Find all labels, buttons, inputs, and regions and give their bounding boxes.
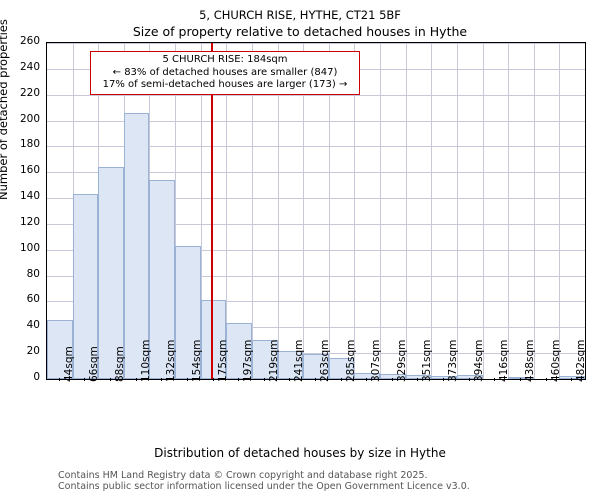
x-axis-tick-label: 460sqm <box>550 340 562 382</box>
gridline-vertical <box>406 43 407 379</box>
y-axis-tick-label: 120 <box>0 216 40 228</box>
gridline-horizontal <box>47 95 585 96</box>
y-axis-tick-label: 260 <box>0 35 40 47</box>
gridline-vertical <box>380 43 381 379</box>
footer-line-2: Contains public sector information licen… <box>58 481 470 492</box>
x-axis-tick-mark <box>341 378 342 381</box>
property-annotation-box: 5 CHURCH RISE: 184sqm← 83% of detached h… <box>90 51 360 95</box>
gridline-vertical <box>508 43 509 379</box>
x-axis-tick-mark <box>161 378 162 381</box>
y-axis-tick-label: 240 <box>0 61 40 73</box>
x-axis-tick-mark <box>136 378 137 381</box>
x-axis-tick-mark <box>366 378 367 381</box>
x-axis-tick-mark <box>494 378 495 381</box>
gridline-vertical <box>534 43 535 379</box>
x-axis-tick-label: 394sqm <box>473 340 485 382</box>
x-axis-tick-mark <box>187 378 188 381</box>
x-axis-tick-label: 351sqm <box>421 340 433 382</box>
y-axis-tick-label: 200 <box>0 113 40 125</box>
x-axis-tick-label: 438sqm <box>524 340 536 382</box>
x-axis-tick-label: 197sqm <box>242 340 254 382</box>
y-axis-tick-label: 180 <box>0 138 40 150</box>
x-axis-tick-mark <box>315 378 316 381</box>
footer-attribution: Contains HM Land Registry data © Crown c… <box>58 470 470 492</box>
y-axis-tick-label: 60 <box>0 293 40 305</box>
gridline-vertical <box>483 43 484 379</box>
y-axis-tick-label: 220 <box>0 87 40 99</box>
x-axis-tick-mark <box>417 378 418 381</box>
x-axis-tick-mark <box>289 378 290 381</box>
x-axis-tick-label: 44sqm <box>63 346 75 382</box>
gridline-horizontal <box>47 43 585 44</box>
gridline-vertical <box>457 43 458 379</box>
x-axis-tick-mark <box>546 378 547 381</box>
annotation-line-1: 5 CHURCH RISE: 184sqm <box>97 54 353 67</box>
x-axis-tick-mark <box>213 378 214 381</box>
x-axis-tick-mark <box>59 378 60 381</box>
x-axis-tick-mark <box>238 378 239 381</box>
gridline-vertical <box>559 43 560 379</box>
x-axis-tick-mark <box>520 378 521 381</box>
y-axis-tick-label: 0 <box>0 371 40 383</box>
y-axis-tick-label: 100 <box>0 242 40 254</box>
x-axis-tick-label: 241sqm <box>293 340 305 382</box>
gridline-vertical <box>431 43 432 379</box>
x-axis-tick-mark <box>84 378 85 381</box>
x-axis-tick-mark <box>392 378 393 381</box>
x-axis-tick-label: 307sqm <box>370 340 382 382</box>
x-axis-tick-label: 329sqm <box>396 340 408 382</box>
x-axis-tick-mark <box>469 378 470 381</box>
plot-area: 5 CHURCH RISE: 184sqm← 83% of detached h… <box>46 42 586 380</box>
y-axis-tick-label: 40 <box>0 319 40 331</box>
x-axis-tick-label: 154sqm <box>191 340 203 382</box>
x-axis-tick-label: 66sqm <box>88 346 100 382</box>
x-axis-label: Distribution of detached houses by size … <box>0 446 600 460</box>
y-axis-tick-label: 80 <box>0 268 40 280</box>
y-axis-tick-label: 160 <box>0 164 40 176</box>
x-axis-tick-mark <box>264 378 265 381</box>
y-axis-tick-label: 20 <box>0 345 40 357</box>
x-axis-tick-label: 482sqm <box>575 340 587 382</box>
x-axis-tick-label: 373sqm <box>447 340 459 382</box>
chart-subtitle: Size of property relative to detached ho… <box>0 24 600 39</box>
x-axis-tick-label: 110sqm <box>140 340 152 382</box>
x-axis-tick-mark <box>571 378 572 381</box>
x-axis-tick-label: 416sqm <box>498 340 510 382</box>
x-axis-tick-label: 132sqm <box>165 340 177 382</box>
x-axis-tick-label: 175sqm <box>217 340 229 382</box>
x-axis-tick-mark <box>110 378 111 381</box>
x-axis-tick-mark <box>443 378 444 381</box>
annotation-line-2: ← 83% of detached houses are smaller (84… <box>97 67 353 80</box>
annotation-line-3: 17% of semi-detached houses are larger (… <box>97 79 353 92</box>
y-axis-tick-label: 140 <box>0 190 40 202</box>
x-axis-tick-label: 219sqm <box>268 340 280 382</box>
x-axis-tick-label: 88sqm <box>114 346 126 382</box>
x-axis-tick-label: 285sqm <box>345 340 357 382</box>
x-axis-tick-label: 263sqm <box>319 340 331 382</box>
chart-container: 5, CHURCH RISE, HYTHE, CT21 5BF Size of … <box>0 0 600 500</box>
footer-line-1: Contains HM Land Registry data © Crown c… <box>58 470 470 481</box>
chart-title: 5, CHURCH RISE, HYTHE, CT21 5BF <box>0 8 600 22</box>
